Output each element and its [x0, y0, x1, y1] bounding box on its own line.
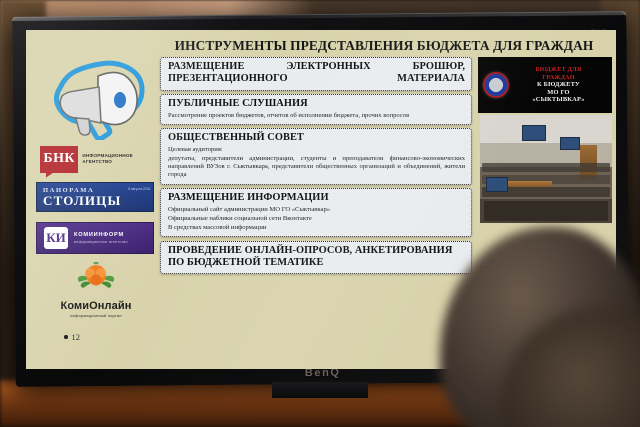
- komiinform-subtitle: информационное агентство: [74, 240, 128, 244]
- logo-bnk: БНК ИНФОРМАЦИОННОЕ АГЕНТСТВО: [40, 144, 152, 174]
- logo-komiinform: КИ КОМИИНФОРМ информационное агентство: [36, 222, 154, 254]
- panorama-corner-note: 8 августа 2018: [128, 187, 150, 191]
- komionline-subtitle: информационный портал: [44, 313, 148, 318]
- slide-number-bullet: [64, 335, 68, 339]
- budget-banner: БЮДЖЕТ ДЛЯ ГРАЖДАН К БЮДЖЕТУ МО ГО «СЫКТ…: [478, 57, 612, 113]
- logo-komionline: КомиОнлайн информационный портал: [44, 262, 148, 320]
- media-logo-column: БНК ИНФОРМАЦИОННОЕ АГЕНТСТВО ПАНОРАМА СТ…: [30, 56, 158, 366]
- bnk-label: БНК: [43, 151, 75, 167]
- bnk-mark: БНК: [40, 146, 78, 173]
- content-block: РАЗМЕЩЕНИЕ ЭЛЕКТРОННЫХ БРОШЮР, ПРЕЗЕНТАЦ…: [160, 57, 472, 91]
- komiinform-name: КОМИИНФОРМ: [74, 232, 128, 238]
- slide-number: 12: [64, 332, 80, 342]
- banner-line-white-3: «СЫКТЫВКАР»: [509, 96, 608, 104]
- photo-public-hearing-hall: [480, 115, 612, 223]
- cloudberry-icon: [76, 262, 116, 294]
- block-body-line: В средствах массовой информации: [168, 224, 465, 232]
- block-heading: РАЗМЕЩЕНИЕ ИНФОРМАЦИИ: [168, 192, 465, 204]
- banner-text: БЮДЖЕТ ДЛЯ ГРАЖДАН К БЮДЖЕТУ МО ГО «СЫКТ…: [509, 66, 612, 104]
- komiinform-text: КОМИИНФОРМ информационное агентство: [74, 232, 128, 244]
- content-block: ПРОВЕДЕНИЕ ОНЛАЙН-ОПРОСОВ, АНКЕТИРОВАНИЯ…: [160, 241, 472, 275]
- panorama-word-main: СТОЛИЦЫ: [43, 194, 153, 208]
- photo-scene: BenQ BenQ ИНСТРУМЕНТЫ ПРЕДСТАВЛЕНИЯ БЮДЖ…: [0, 0, 640, 427]
- komionline-name: КомиОнлайн: [44, 300, 148, 312]
- block-body-line: Официальный сайт администрации МО ГО «Сы…: [168, 206, 465, 214]
- bnk-subtitle: ИНФОРМАЦИОННОЕ АГЕНТСТВО: [82, 153, 152, 165]
- monitor-stand-neck: [272, 382, 368, 398]
- komiinform-badge: КИ: [44, 227, 68, 249]
- content-block-list: РАЗМЕЩЕНИЕ ЭЛЕКТРОННЫХ БРОШЮР, ПРЕЗЕНТАЦ…: [160, 57, 472, 278]
- block-body-lead: Целевая аудитория:: [168, 146, 465, 154]
- content-block: ОБЩЕСТВЕННЫЙ СОВЕТ Целевая аудитория: де…: [160, 128, 472, 184]
- banner-line-red-2: ГРАЖДАН: [509, 74, 608, 81]
- block-body: депутаты, представители администрации, с…: [168, 155, 465, 180]
- banner-line-white-2: МО ГО: [509, 89, 608, 97]
- slide-title: ИНСТРУМЕНТЫ ПРЕДСТАВЛЕНИЯ БЮДЖЕТА ДЛЯ ГР…: [164, 35, 604, 56]
- syktyvkar-emblem-icon: [483, 72, 509, 98]
- block-heading: ОБЩЕСТВЕННЫЙ СОВЕТ: [168, 132, 465, 144]
- block-heading: ПРОВЕДЕНИЕ ОНЛАЙН-ОПРОСОВ, АНКЕТИРОВАНИЯ…: [168, 245, 465, 270]
- banner-line-red-1: БЮДЖЕТ ДЛЯ: [509, 66, 608, 73]
- banner-line-white-1: К БЮДЖЕТУ: [509, 81, 608, 89]
- block-body: Рассмотрение проектов бюджетов, отчетов …: [168, 112, 465, 120]
- content-block: РАЗМЕЩЕНИЕ ИНФОРМАЦИИ Официальный сайт а…: [160, 188, 472, 237]
- content-block: ПУБЛИЧНЫЕ СЛУШАНИЯ Рассмотрение проектов…: [160, 94, 472, 125]
- block-heading: ПУБЛИЧНЫЕ СЛУШАНИЯ: [168, 98, 465, 110]
- megaphone-icon: [40, 58, 150, 140]
- block-heading: РАЗМЕЩЕНИЕ ЭЛЕКТРОННЫХ БРОШЮР, ПРЕЗЕНТАЦ…: [168, 61, 465, 86]
- logo-panorama-stolicy: ПАНОРАМА СТОЛИЦЫ 8 августа 2018: [36, 182, 154, 212]
- block-body-line: Официальные паблики социальной сети Вкон…: [168, 215, 465, 223]
- slide-number-value: 12: [72, 332, 81, 342]
